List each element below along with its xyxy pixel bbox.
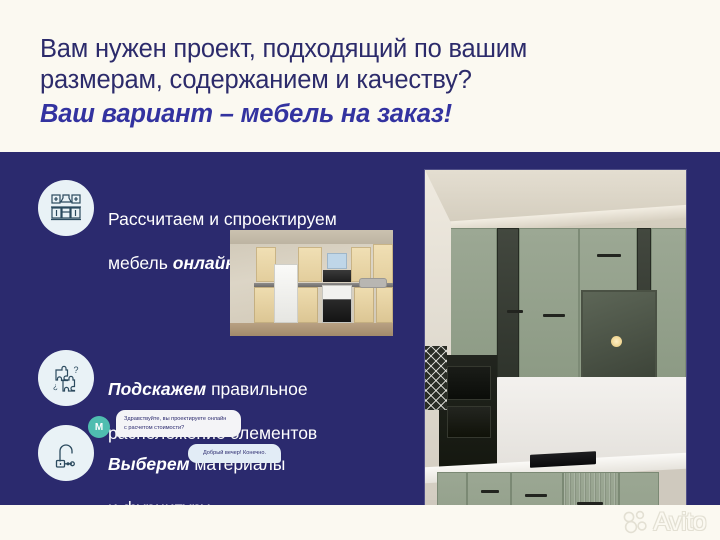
headline-line-2: размерам, содержанием и качеству? — [40, 65, 680, 96]
kitchen-render-thumbnail — [230, 230, 393, 336]
faucet-icon — [38, 425, 94, 481]
avatar: M — [88, 416, 110, 438]
headline-line-1: Вам нужен проект, подходящий по вашим — [40, 34, 680, 65]
avito-watermark: Avito — [623, 509, 706, 535]
main-panel: Рассчитаем и спроектируем мебель онлайн … — [0, 152, 720, 505]
kitchen-photo — [425, 170, 686, 505]
feature-2-bold: Подскажем — [108, 379, 206, 399]
chat-mockup: M Здравствуйте, вы проектируете онлайн с… — [88, 410, 328, 472]
chat-bubble-outgoing: Добрый вечер! Конечно. — [188, 444, 281, 463]
svg-text:¿: ¿ — [53, 382, 58, 391]
advertisement-banner: Вам нужен проект, подходящий по вашим ра… — [0, 0, 720, 540]
feature-1-lead: мебель — [108, 253, 173, 273]
feature-2-plain: правильное — [206, 379, 307, 399]
chat-bubble-incoming: Здравствуйте, вы проектируете онлайн с р… — [116, 410, 241, 437]
feature-3-line2: и фурнитуру — [108, 498, 210, 505]
feature-1-line1: Рассчитаем и спроектируем — [108, 209, 337, 229]
feature-list: Рассчитаем и спроектируем мебель онлайн … — [0, 152, 420, 505]
avito-watermark-text: Avito — [653, 509, 706, 535]
kitchen-cabinets-icon — [38, 180, 94, 236]
puzzle-question-icon: ? ¿ — [38, 350, 94, 406]
header-section: Вам нужен проект, подходящий по вашим ра… — [0, 0, 720, 152]
headline-accent: Ваш вариант – мебель на заказ! — [40, 98, 680, 130]
svg-text:?: ? — [74, 365, 79, 375]
avito-logo-icon — [623, 510, 649, 534]
footer-section: Avito — [0, 505, 720, 540]
